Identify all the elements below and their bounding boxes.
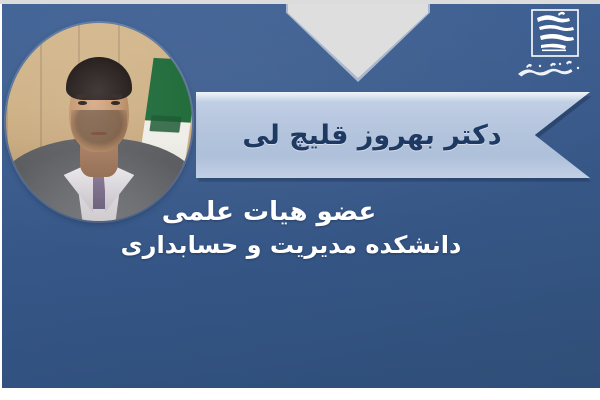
- portrait-hair: [66, 57, 133, 101]
- faculty-profile-card: دکتر بهروز قلیچ لی عضو هیات علمی: [0, 0, 600, 400]
- portrait-background: [6, 23, 192, 221]
- name-ribbon: دکتر بهروز قلیچ لی: [196, 92, 590, 178]
- portrait-photo: [6, 23, 192, 221]
- bottom-gutter: [0, 388, 600, 400]
- portrait-mouth: [91, 132, 108, 135]
- flag-emblem: [149, 115, 181, 133]
- faculty-name: دانشکده مدیریت و حسابداری: [0, 229, 600, 261]
- person-name: دکتر بهروز قلیچ لی: [242, 120, 501, 151]
- ribbon-highlight: [196, 92, 590, 102]
- university-logo: [506, 4, 590, 86]
